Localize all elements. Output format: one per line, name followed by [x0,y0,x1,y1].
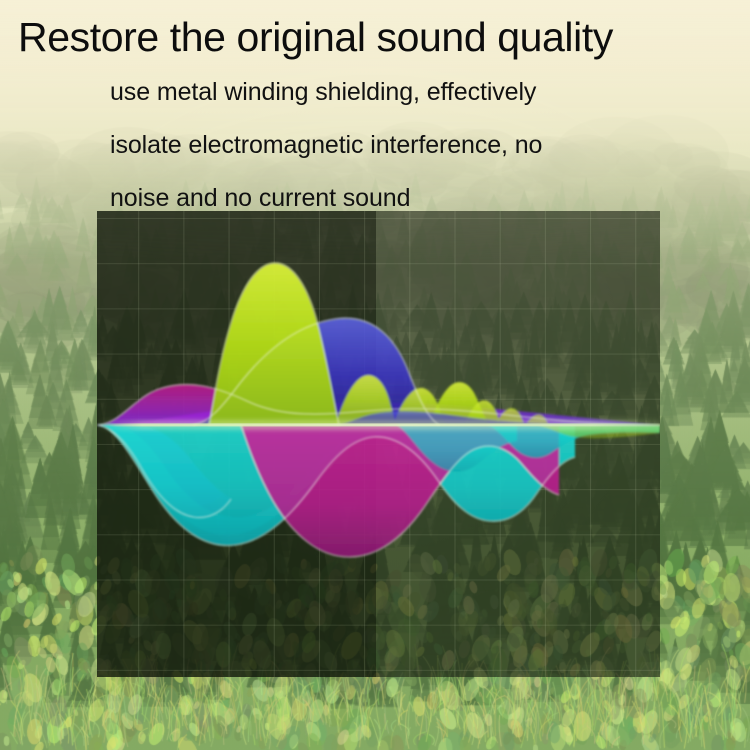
subtitle-line-1: use metal winding shielding, effectively [110,66,710,119]
page-title: Restore the original sound quality [18,14,748,61]
subtitle-block: use metal winding shielding, effectively… [110,66,710,225]
audio-waveform-graphic [97,211,660,677]
banner-root: Restore the original sound quality use m… [0,0,750,750]
subtitle-line-2: isolate electromagnetic interference, no [110,119,710,172]
waveform-panel: Sound quality fluctuates before conversi… [97,211,660,677]
